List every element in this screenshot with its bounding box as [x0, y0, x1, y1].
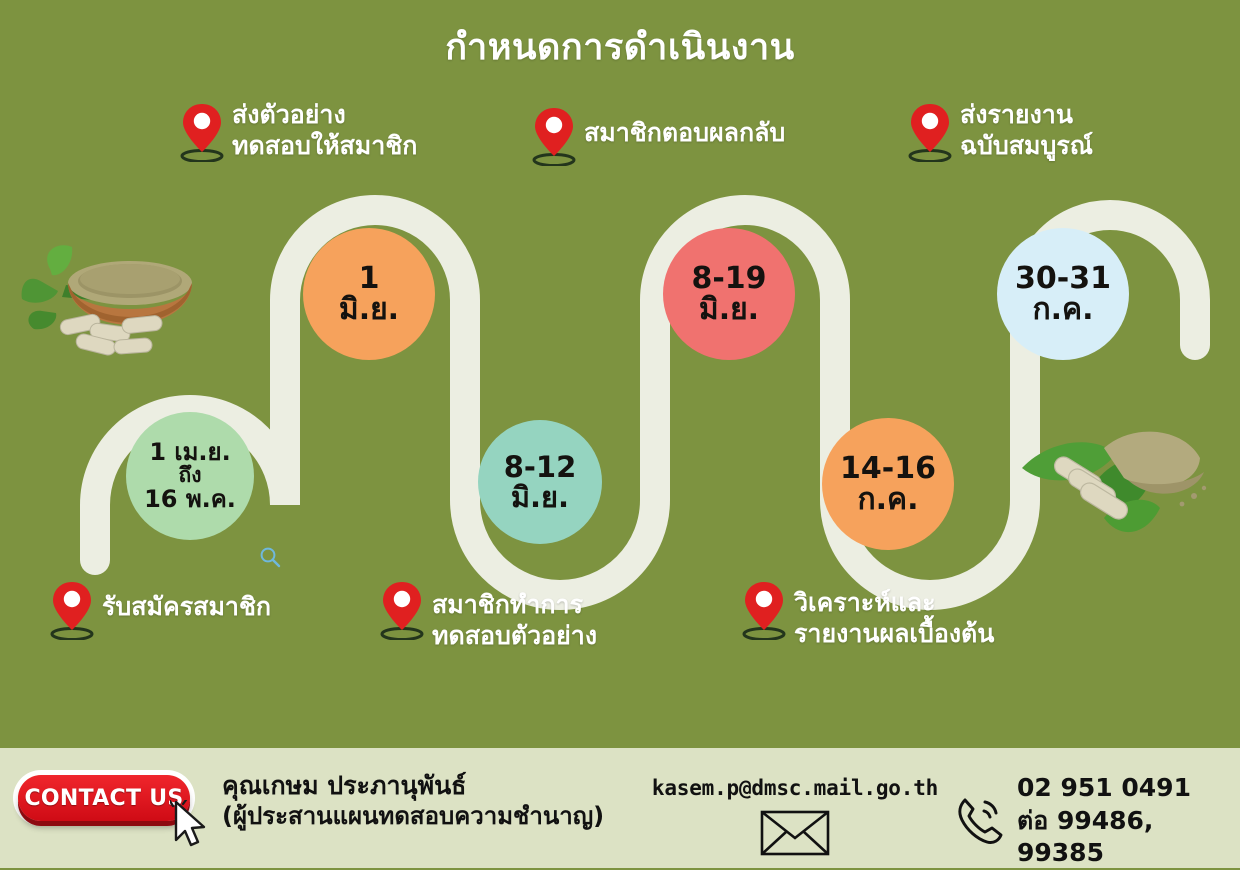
milestone-label: ส่งตัวอย่าง ทดสอบให้สมาชิก [232, 100, 417, 161]
milestone-label: รับสมัครสมาชิก [102, 592, 271, 623]
bubble-date-line2: ก.ค. [857, 484, 918, 515]
milestone-marker-send-samples[interactable]: ส่งตัวอย่าง ทดสอบให้สมาชิก [178, 100, 417, 162]
bubble-date-line2: มิ.ย. [699, 294, 759, 325]
contact-phone-block: 02 951 0491 ต่อ 99486, 99385 [955, 772, 1240, 870]
map-pin-icon [740, 578, 788, 640]
milestone-label: สมาชิกทำการ ทดสอบตัวอย่าง [432, 590, 597, 651]
milestone-label: สมาชิกตอบผลกลับ [584, 118, 785, 149]
bubble-date-line1: 8-12 [504, 452, 577, 482]
milestone-marker-final-report[interactable]: ส่งรายงาน ฉบับสมบูรณ์ [906, 100, 1093, 162]
milestone-marker-registration[interactable]: รับสมัครสมาชิก [48, 578, 271, 640]
phone-icon [955, 794, 1007, 848]
milestone-marker-analysis[interactable]: วิเคราะห์และ รายงานผลเบื้องต้น [740, 578, 994, 649]
contact-phone-extension: ต่อ 99486, 99385 [1017, 805, 1240, 870]
bubble-date-line1: 30-31 [1015, 263, 1111, 294]
contact-email-block: kasem.p@dmsc.mail.go.th [620, 776, 970, 860]
envelope-icon [760, 810, 830, 856]
bubble-date-line2: มิ.ย. [511, 482, 569, 512]
milestone-bubble-analysis[interactable]: 14-16 ก.ค. [822, 418, 954, 550]
contact-phone-number[interactable]: 02 951 0491 [1017, 772, 1240, 805]
contact-footer: CONTACT US คุณเกษม ประภานุพันธ์ (ผู้ประส… [0, 748, 1240, 868]
mouse-cursor-icon [170, 800, 214, 852]
contact-person-role: (ผู้ประสานแผนทดสอบความชำนาญ) [222, 801, 642, 831]
milestone-bubble-send-samples[interactable]: 1 มิ.ย. [303, 228, 435, 360]
map-pin-icon [48, 578, 96, 640]
bubble-date-line2: มิ.ย. [339, 294, 399, 325]
bubble-date-line1: 1 [359, 263, 380, 294]
contact-person: คุณเกษม ประภานุพันธ์ (ผู้ประสานแผนทดสอบค… [222, 770, 642, 831]
milestone-label: ส่งรายงาน ฉบับสมบูรณ์ [960, 100, 1093, 161]
bubble-date-line3: 16 พ.ค. [144, 487, 236, 512]
contact-email[interactable]: kasem.p@dmsc.mail.go.th [620, 776, 970, 800]
map-pin-icon [378, 578, 426, 640]
bubble-date-line1: 1 เม.ย. [149, 440, 230, 465]
bubble-date-line1: 14-16 [840, 453, 936, 484]
milestone-marker-member-reply[interactable]: สมาชิกตอบผลกลับ [530, 104, 785, 166]
bubble-date-line1: 8-19 [691, 263, 766, 294]
map-pin-icon [530, 104, 578, 166]
search-icon [258, 545, 282, 569]
milestone-marker-member-testing[interactable]: สมาชิกทำการ ทดสอบตัวอย่าง [378, 578, 597, 651]
bubble-date-line2: ก.ค. [1032, 294, 1093, 325]
milestone-bubble-member-reply[interactable]: 8-19 มิ.ย. [663, 228, 795, 360]
milestone-bubble-member-testing[interactable]: 8-12 มิ.ย. [478, 420, 602, 544]
herb-capsules-powder-image [1008, 400, 1228, 580]
herb-capsules-bowl-image [14, 225, 214, 365]
milestone-bubble-final-report[interactable]: 30-31 ก.ค. [997, 228, 1129, 360]
contact-us-button[interactable]: CONTACT US [18, 775, 190, 821]
contact-person-name: คุณเกษม ประภานุพันธ์ [222, 770, 642, 801]
map-pin-icon [178, 100, 226, 162]
milestone-label: วิเคราะห์และ รายงานผลเบื้องต้น [794, 588, 994, 649]
milestone-bubble-registration[interactable]: 1 เม.ย. ถึง 16 พ.ค. [126, 412, 254, 540]
infographic-canvas: กำหนดการดำเนินงาน [0, 0, 1240, 868]
map-pin-icon [906, 100, 954, 162]
bubble-date-line2: ถึง [179, 465, 202, 487]
